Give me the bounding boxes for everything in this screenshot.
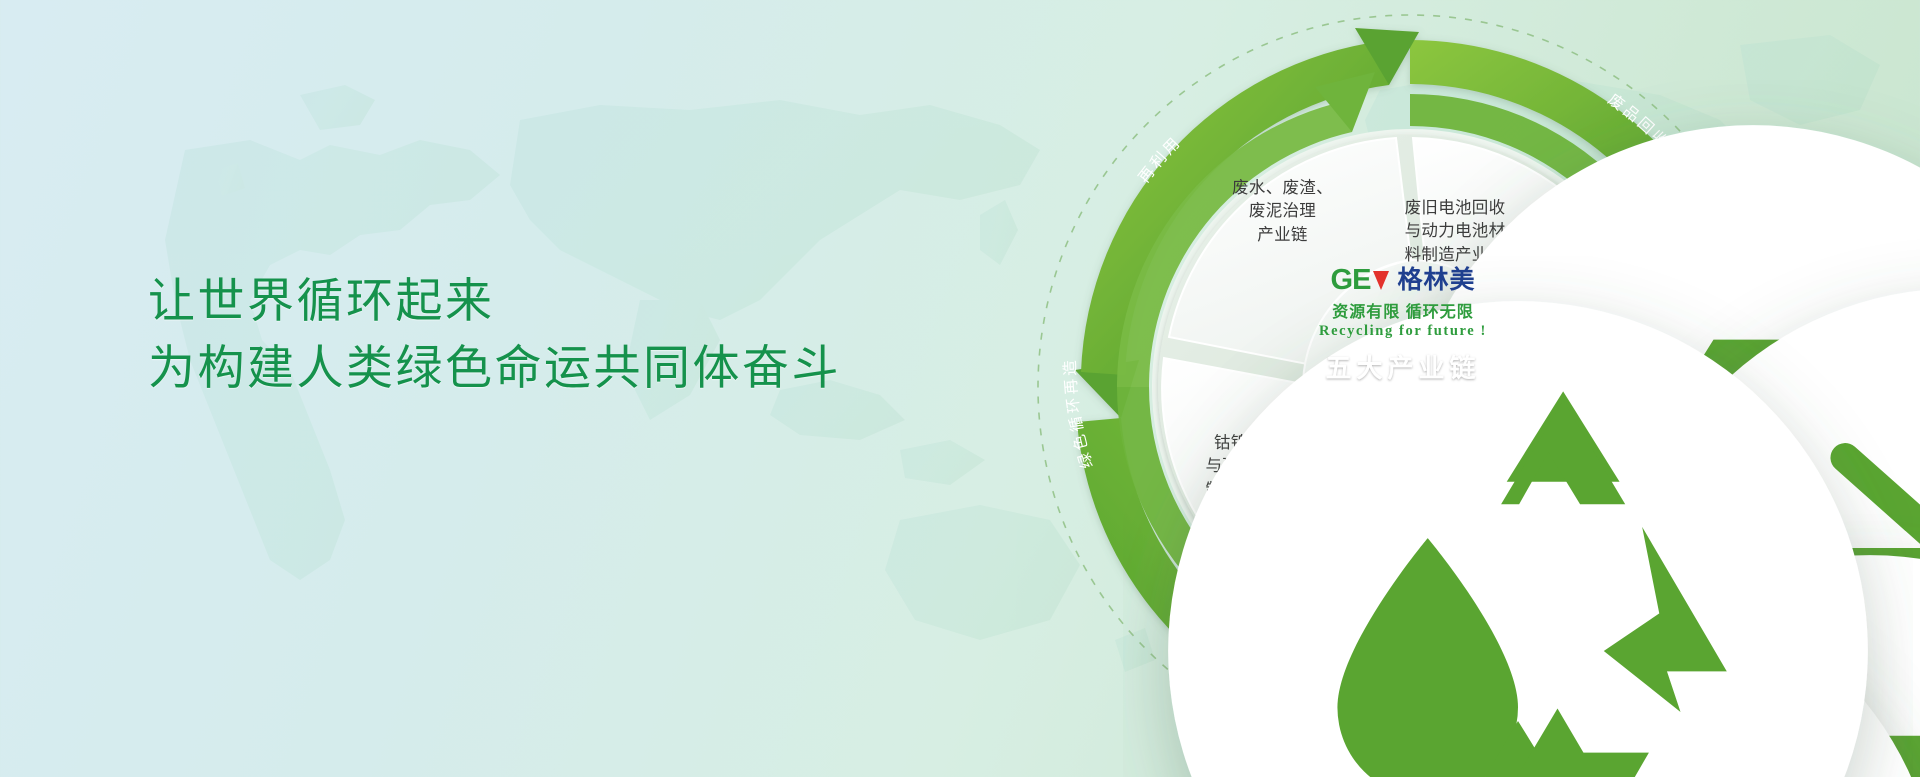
logo-latin-text: GE [1331, 266, 1371, 295]
headline-line-2: 为构建人类绿色命运共同体奋斗 [148, 335, 908, 402]
headline-block: 让世界循环起来 为构建人类绿色命运共同体奋斗 [148, 268, 908, 401]
logo-row: GE 格林美 [1283, 266, 1523, 295]
logo-chinese-name: 格林美 [1397, 268, 1475, 293]
headline-line-1: 让世界循环起来 [148, 268, 908, 335]
five-industry-chain-diagram: 废品回收 材料制造 备件材料制造 绿色循环再造 再利用 废旧电池回收 与动力电池… [1015, 0, 1805, 777]
logo-slogan-en: Recycling for future ! [1283, 323, 1523, 340]
logo-slogan-cn: 资源有限 循环无限 [1283, 298, 1523, 322]
center-title: 五大产业链 [1283, 348, 1523, 385]
logo-triangle-mark [1373, 271, 1389, 290]
gem-logo: GE 格林美 资源有限 循环无限 Recycling for future ! [1283, 266, 1523, 340]
sector-label-waste-water: 废水、废渣、 废泥治理 产业链 [1195, 177, 1370, 247]
